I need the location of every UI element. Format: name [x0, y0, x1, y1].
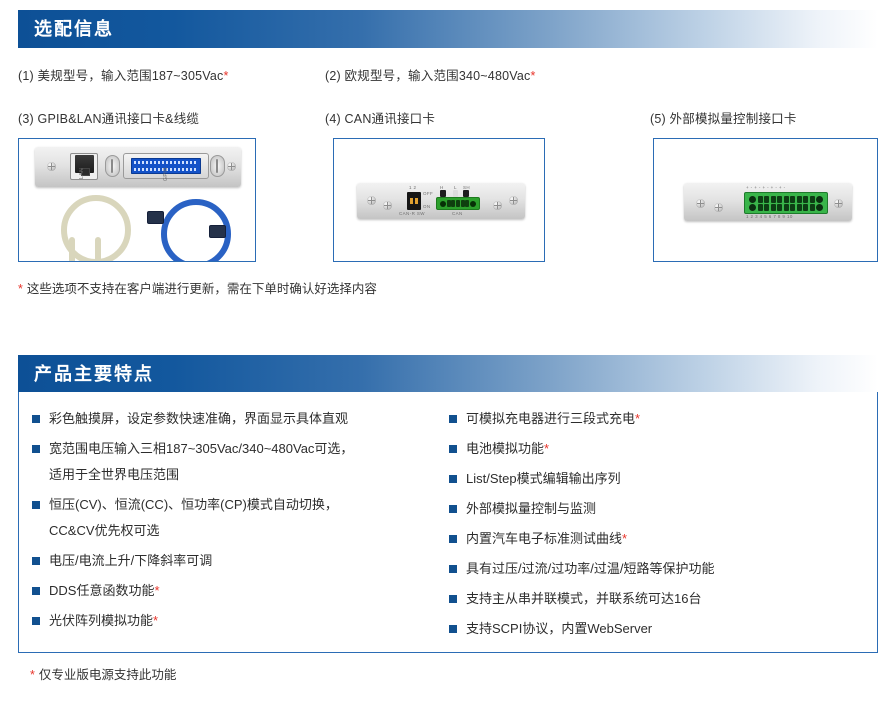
dip-off-label: ON: [423, 204, 431, 209]
feature-item: 支持SCPI协议，内置WebServer: [449, 620, 869, 637]
header-block-icon: [453, 190, 458, 197]
asterisk-icon: *: [622, 531, 627, 546]
analog-terminal-row: [749, 195, 823, 203]
feature-text: 光伏阵列模拟功能: [49, 613, 153, 628]
bullet-icon: [449, 535, 457, 543]
bullet-icon: [32, 617, 40, 625]
features-note-text: 仅专业版电源支持此功能: [39, 668, 177, 682]
feature-text: 电池模拟功能: [466, 441, 544, 456]
feature-text: DDS任意函数功能: [49, 583, 154, 598]
features-title: 产品主要特点: [18, 365, 154, 383]
product-spec-page: 选配信息 (1) 美规型号，输入范围187~305Vac* (2) 欧规型号，输…: [0, 0, 896, 703]
dip-on-label: OFF: [423, 191, 433, 196]
feature-item: DDS任意函数功能*: [32, 582, 442, 599]
analog-terminal-icon: [744, 192, 828, 214]
bullet-icon: [32, 445, 40, 453]
feature-item: List/Step模式编辑输出序列: [449, 470, 869, 487]
analog-card-image: + - + - + - + - + - 1 2 3 4 5 6 7 8 9 10: [653, 138, 878, 262]
feature-text: 外部模拟量控制与监测: [466, 501, 596, 516]
analog-panel: + - + - + - + - + - 1 2 3 4 5 6 7 8 9 10: [684, 183, 852, 221]
bullet-icon: [449, 565, 457, 573]
screw-icon: [493, 201, 502, 210]
feature-item: 外部模拟量控制与监测: [449, 500, 869, 517]
bullet-icon: [32, 557, 40, 565]
bullet-icon: [449, 475, 457, 483]
feature-text: 具有过压/过流/过功率/过温/短路等保护功能: [466, 561, 714, 576]
option-5-label: (5) 外部模拟量控制接口卡: [650, 108, 797, 127]
bullet-icon: [32, 501, 40, 509]
analog-top-tick-label: + - + - + - + - + -: [746, 185, 786, 190]
option-3-text: (3) GPIB&LAN通讯接口卡&线缆: [18, 112, 199, 126]
asterisk-icon: *: [154, 583, 159, 598]
can-r-sw-label: CAN-R SW: [399, 211, 425, 216]
screw-icon: [696, 199, 705, 208]
gpib-cable-icon: [147, 195, 227, 257]
feature-item: 支持主从串并联模式，并联系统可达16台: [449, 590, 869, 607]
feature-text: 可模拟充电器进行三段式充电: [466, 411, 635, 426]
option-1-text: (1) 美规型号，输入范围187~305Vac: [18, 69, 223, 83]
bullet-icon: [32, 587, 40, 595]
analog-terminal-row: [749, 203, 823, 211]
gpib-lan-panel: LAN GPIB: [35, 147, 241, 187]
feature-item: 彩色触摸屏，设定参数快速准确，界面显示具体直观: [32, 410, 442, 427]
bullet-icon: [449, 595, 457, 603]
option-2-label: (2) 欧规型号，输入范围340~480Vac*: [325, 65, 536, 84]
features-panel: 彩色触摸屏，设定参数快速准确，界面显示具体直观 宽范围电压输入三相187~305…: [18, 392, 878, 653]
feature-item: 电池模拟功能*: [449, 440, 869, 457]
gpib-port-label: GPIB: [163, 167, 169, 181]
option-4-label: (4) CAN通讯接口卡: [325, 108, 435, 127]
feature-text: 宽范围电压输入三相187~305Vac/340~480Vac可选，: [49, 441, 353, 456]
header-block-icon: [440, 190, 446, 197]
lan-cable-icon: [57, 195, 127, 257]
asterisk-icon: *: [544, 441, 549, 456]
asterisk-icon: *: [223, 69, 228, 83]
can-l-label: L: [454, 185, 457, 190]
optional-info-header: 选配信息: [18, 10, 878, 48]
asterisk-icon: *: [153, 613, 158, 628]
screw-icon: [509, 196, 518, 205]
feature-item: 可模拟充电器进行三段式充电*: [449, 410, 869, 427]
asterisk-icon: *: [30, 668, 35, 682]
features-right-column: 可模拟充电器进行三段式充电* 电池模拟功能* List/Step模式编辑输出序列…: [449, 410, 869, 650]
feature-item: 宽范围电压输入三相187~305Vac/340~480Vac可选， 适用于全世界…: [32, 440, 442, 483]
analog-bottom-tick-label: 1 2 3 4 5 6 7 8 9 10: [746, 214, 793, 219]
screw-icon: [227, 162, 236, 171]
features-header: 产品主要特点: [18, 355, 878, 393]
thumbnut-icon: [210, 155, 225, 177]
asterisk-icon: *: [635, 411, 640, 426]
lan-port-label: LAN: [79, 168, 85, 179]
bullet-icon: [32, 415, 40, 423]
header-block-icon: [463, 190, 469, 197]
option-3-label: (3) GPIB&LAN通讯接口卡&线缆: [18, 108, 199, 127]
option-1-label: (1) 美规型号，输入范围187~305Vac*: [18, 65, 229, 84]
dip-switch-icon: [407, 192, 421, 210]
can-panel: 1 2 OFF ON CAN-R SW H L SH CAN: [357, 183, 525, 219]
can-terminal-icon: [436, 197, 480, 210]
feature-item: 内置汽车电子标准测试曲线*: [449, 530, 869, 547]
can-port-label: CAN: [452, 211, 463, 216]
features-note: *仅专业版电源支持此功能: [30, 664, 176, 683]
option-5-text: (5) 外部模拟量控制接口卡: [650, 112, 797, 126]
bullet-icon: [449, 505, 457, 513]
bullet-icon: [449, 415, 457, 423]
feature-item: 具有过压/过流/过功率/过温/短路等保护功能: [449, 560, 869, 577]
feature-text: List/Step模式编辑输出序列: [466, 471, 621, 486]
optional-info-title: 选配信息: [18, 20, 114, 38]
gpib-lan-card-image: LAN GPIB: [18, 138, 256, 262]
feature-text: 支持主从串并联模式，并联系统可达16台: [466, 591, 701, 606]
feature-subtext: 适用于全世界电压范围: [49, 466, 353, 483]
optional-info-note-text: 这些选项不支持在客户端进行更新，需在下单时确认好选择内容: [27, 282, 377, 296]
screw-icon: [834, 199, 843, 208]
feature-text: 电压/电流上升/下降斜率可调: [49, 553, 212, 568]
feature-item: 电压/电流上升/下降斜率可调: [32, 552, 442, 569]
screw-icon: [383, 201, 392, 210]
feature-text: 彩色触摸屏，设定参数快速准确，界面显示具体直观: [49, 411, 348, 426]
feature-text: 恒压(CV)、恒流(CC)、恒功率(CP)模式自动切换，: [49, 497, 338, 512]
option-2-text: (2) 欧规型号，输入范围340~480Vac: [325, 69, 530, 83]
dip-index-label: 1 2: [409, 185, 416, 190]
can-card-image: 1 2 OFF ON CAN-R SW H L SH CAN: [333, 138, 545, 262]
features-left-column: 彩色触摸屏，设定参数快速准确，界面显示具体直观 宽范围电压输入三相187~305…: [32, 410, 442, 642]
option-4-text: (4) CAN通讯接口卡: [325, 112, 435, 126]
feature-item: 恒压(CV)、恒流(CC)、恒功率(CP)模式自动切换， CC&CV优先权可选: [32, 496, 442, 539]
asterisk-icon: *: [530, 69, 535, 83]
screw-icon: [47, 162, 56, 171]
feature-item: 光伏阵列模拟功能*: [32, 612, 442, 629]
feature-subtext: CC&CV优先权可选: [49, 522, 338, 539]
optional-info-note: *这些选项不支持在客户端进行更新，需在下单时确认好选择内容: [18, 278, 377, 297]
feature-text: 支持SCPI协议，内置WebServer: [466, 621, 652, 636]
bullet-icon: [449, 445, 457, 453]
can-sh-label: SH: [463, 185, 470, 190]
bullet-icon: [449, 625, 457, 633]
can-h-label: H: [440, 185, 444, 190]
screw-icon: [714, 203, 723, 212]
asterisk-icon: *: [18, 282, 23, 296]
screw-icon: [367, 196, 376, 205]
feature-text: 内置汽车电子标准测试曲线: [466, 531, 622, 546]
thumbnut-icon: [105, 155, 120, 177]
